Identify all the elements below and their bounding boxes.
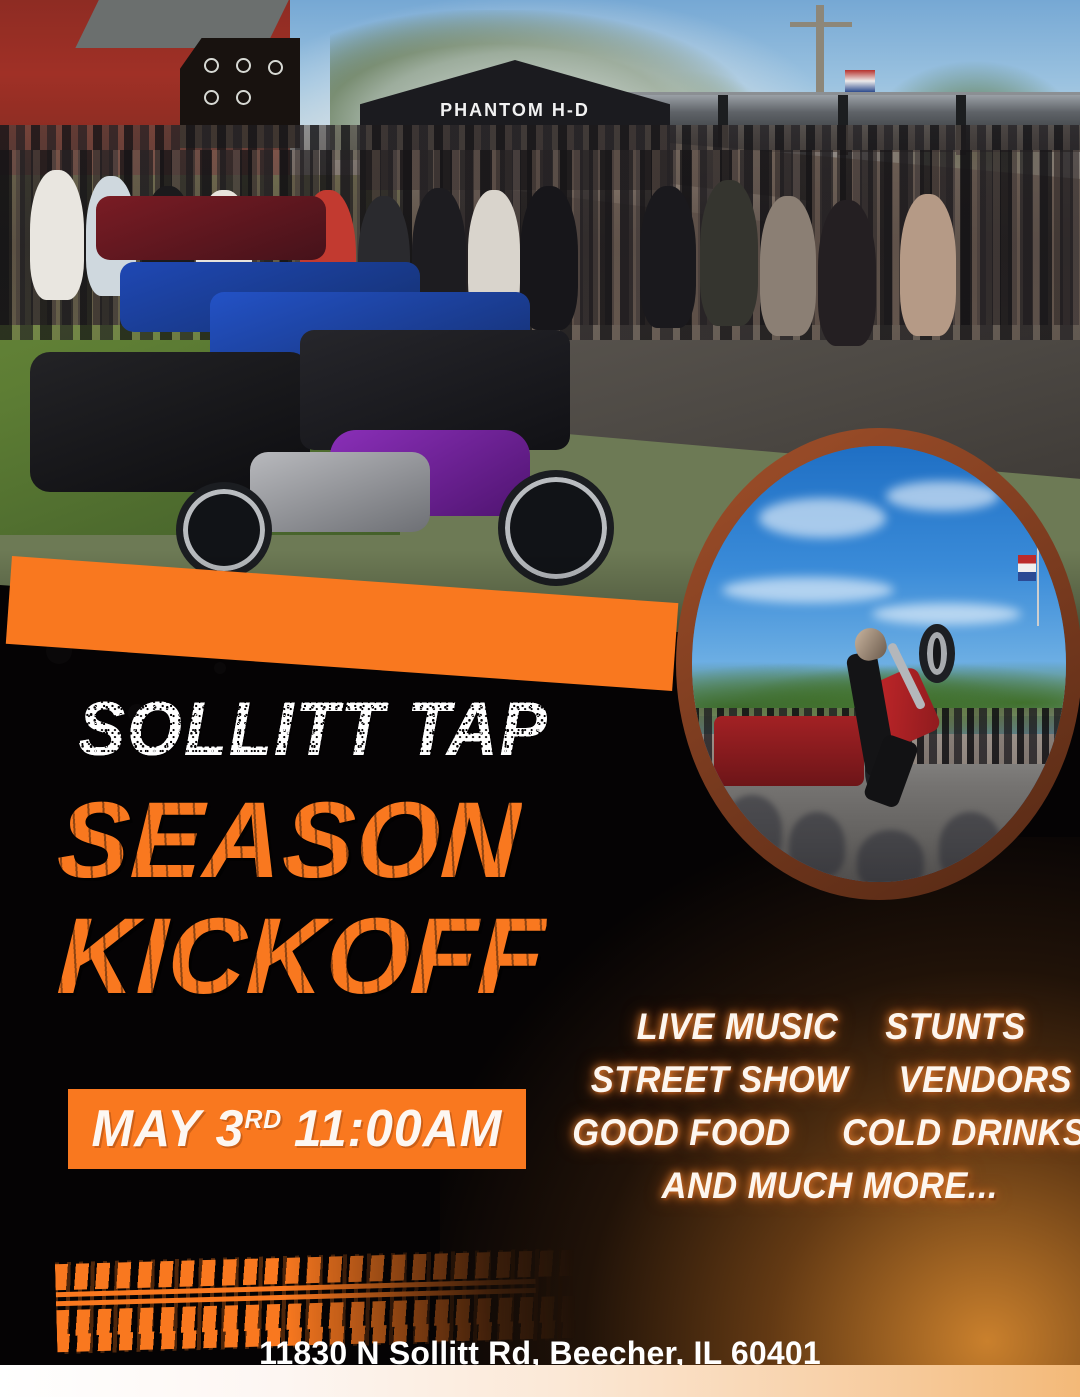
inset-stunt-rider: [842, 620, 947, 821]
barn-vent-3: [268, 60, 283, 75]
person-dark-5: [818, 200, 876, 346]
barn-vent-2: [236, 58, 251, 73]
tent-sign-label: PHANTOM H-D: [360, 100, 670, 121]
feature-and-much-more: AND MUCH MORE...: [662, 1165, 998, 1207]
inset-cloud-3: [722, 577, 894, 603]
barn-vent-5: [236, 90, 251, 105]
date-time-value: 11:00AM: [294, 1099, 502, 1159]
utility-crossarm: [790, 22, 852, 27]
date-time-banner: MAY 3RD11:00AM: [68, 1089, 526, 1169]
person-olive: [700, 180, 758, 326]
features-row-2: STREET SHOW VENDORS: [581, 1059, 1078, 1101]
person-dark-4: [640, 186, 696, 328]
features-row-4: AND MUCH MORE...: [649, 1165, 1011, 1207]
american-flag-top: [845, 70, 875, 92]
inset-flag-pole: [1037, 546, 1039, 626]
inset-cloud-1: [759, 498, 886, 537]
feature-cold-drinks: COLD DRINKS: [842, 1112, 1080, 1154]
barn-vent-4: [204, 90, 219, 105]
date-month-day: MAY 3: [92, 1099, 245, 1159]
page-title-brand: SOLLITT TAP: [78, 686, 549, 773]
features-list: LIVE MUSIC STUNTS STREET SHOW VENDORS GO…: [600, 1006, 1060, 1207]
event-flyer: PHANTOM H-D: [0, 0, 1080, 1397]
person-white-hoodie: [30, 170, 84, 300]
inset-shadow-3: [857, 830, 924, 882]
barn-vent-1: [204, 58, 219, 73]
person-light-2: [900, 194, 956, 336]
features-row-1: LIVE MUSIC STUNTS: [629, 1006, 1031, 1048]
motorcycle-chrome-engine: [250, 452, 430, 532]
date-time-text: MAY 3RD11:00AM: [92, 1099, 503, 1159]
inset-shadow-2: [789, 812, 845, 877]
feature-good-food: GOOD FOOD: [573, 1112, 791, 1154]
inset-shadow-4: [939, 812, 1003, 882]
stunt-bike-front-wheel: [919, 624, 955, 682]
feature-live-music: LIVE MUSIC: [637, 1006, 839, 1048]
person-tan: [760, 196, 816, 336]
circular-stunt-photo: [676, 428, 1080, 900]
circle-photo-inner: [692, 446, 1066, 882]
inset-shadow-1: [722, 795, 782, 865]
headline-season: SEASON: [55, 790, 522, 889]
inset-american-flag: [1018, 555, 1036, 581]
inset-cloud-2: [886, 481, 998, 512]
feature-vendors: VENDORS: [899, 1059, 1072, 1101]
feature-street-show: STREET SHOW: [591, 1059, 848, 1101]
feature-stunts: STUNTS: [885, 1006, 1025, 1048]
features-row-3: GOOD FOOD COLD DRINKS: [564, 1112, 1080, 1154]
headline-kickoff: KICKOFF: [55, 906, 547, 1005]
motorcycle-maroon: [96, 196, 326, 260]
date-ordinal-suffix: RD: [244, 1104, 282, 1135]
bottom-gradient-strip: [0, 1365, 1080, 1397]
